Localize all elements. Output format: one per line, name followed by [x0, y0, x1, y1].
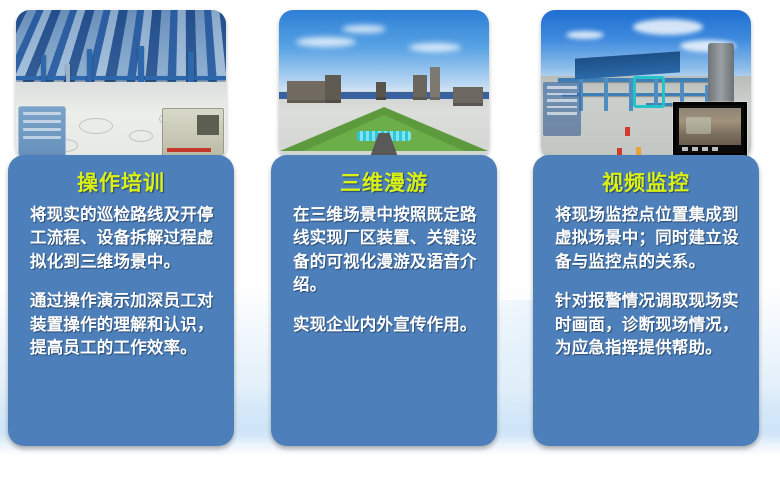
card-title: 视频监控: [533, 167, 759, 197]
scene-highlighted-device: [633, 76, 665, 108]
card-panel: 三维漫游 在三维场景中按照既定路线实现厂区装置、关键设备的可视化漫游及语音介绍。…: [271, 155, 497, 446]
scene-camera-picture-in-picture[interactable]: [673, 102, 747, 156]
scene-wall-panel: [18, 106, 66, 160]
feature-card-list: 操作培训 将现实的巡检路线及开停工流程、设备拆解过程虚拟化到三维场景中。 通过操…: [0, 0, 780, 491]
card-paragraph: 将现场监控点位置集成到虚拟场景中；同时建立设备与监控点的关系。: [555, 203, 739, 273]
thumbnail-industrial-interior-icon: [16, 10, 226, 160]
card-paragraph: 实现企业内外宣传作用。: [293, 313, 477, 336]
scene-hud-panel: [543, 82, 581, 136]
card-paragraph: 针对报警情况调取现场实时画面，诊断现场情况，为应急指挥提供帮助。: [555, 289, 739, 359]
page-background: 操作培训 将现实的巡检路线及开停工流程、设备拆解过程虚拟化到三维场景中。 通过操…: [0, 0, 780, 491]
scene-plant-overview: [541, 10, 751, 160]
card-title: 三维漫游: [271, 167, 497, 197]
card-panel: 操作培训 将现实的巡检路线及开停工流程、设备拆解过程虚拟化到三维场景中。 通过操…: [8, 155, 234, 446]
card-paragraph: 在三维场景中按照既定路线实现厂区装置、关键设备的可视化漫游及语音介绍。: [293, 203, 477, 297]
card-body: 将现场监控点位置集成到虚拟场景中；同时建立设备与监控点的关系。 针对报警情况调取…: [533, 203, 759, 360]
scene-plant-plaza: [279, 10, 489, 160]
card-title: 操作培训: [8, 167, 234, 197]
feature-card-video-surveillance[interactable]: 视频监控 将现场监控点位置集成到虚拟场景中；同时建立设备与监控点的关系。 针对报…: [533, 10, 759, 446]
card-paragraph: 将现实的巡检路线及开停工流程、设备拆解过程虚拟化到三维场景中。: [30, 203, 214, 273]
thumbnail-plant-overview-icon: [541, 10, 751, 160]
scene-equipment-box: [162, 108, 224, 158]
card-body: 在三维场景中按照既定路线实现厂区装置、关键设备的可视化漫游及语音介绍。 实现企业…: [271, 203, 497, 336]
thumbnail-plant-plaza-icon: [279, 10, 489, 160]
card-paragraph: 通过操作演示加深员工对装置操作的理解和认识，提高员工的工作效率。: [30, 289, 214, 359]
card-body: 将现实的巡检路线及开停工流程、设备拆解过程虚拟化到三维场景中。 通过操作演示加深…: [8, 203, 234, 360]
card-panel: 视频监控 将现场监控点位置集成到虚拟场景中；同时建立设备与监控点的关系。 针对报…: [533, 155, 759, 446]
feature-card-operation-training[interactable]: 操作培训 将现实的巡检路线及开停工流程、设备拆解过程虚拟化到三维场景中。 通过操…: [8, 10, 234, 446]
scene-industrial-interior: [16, 10, 226, 160]
feature-card-three-dimensional-roaming[interactable]: 三维漫游 在三维场景中按照既定路线实现厂区装置、关键设备的可视化漫游及语音介绍。…: [271, 10, 497, 446]
